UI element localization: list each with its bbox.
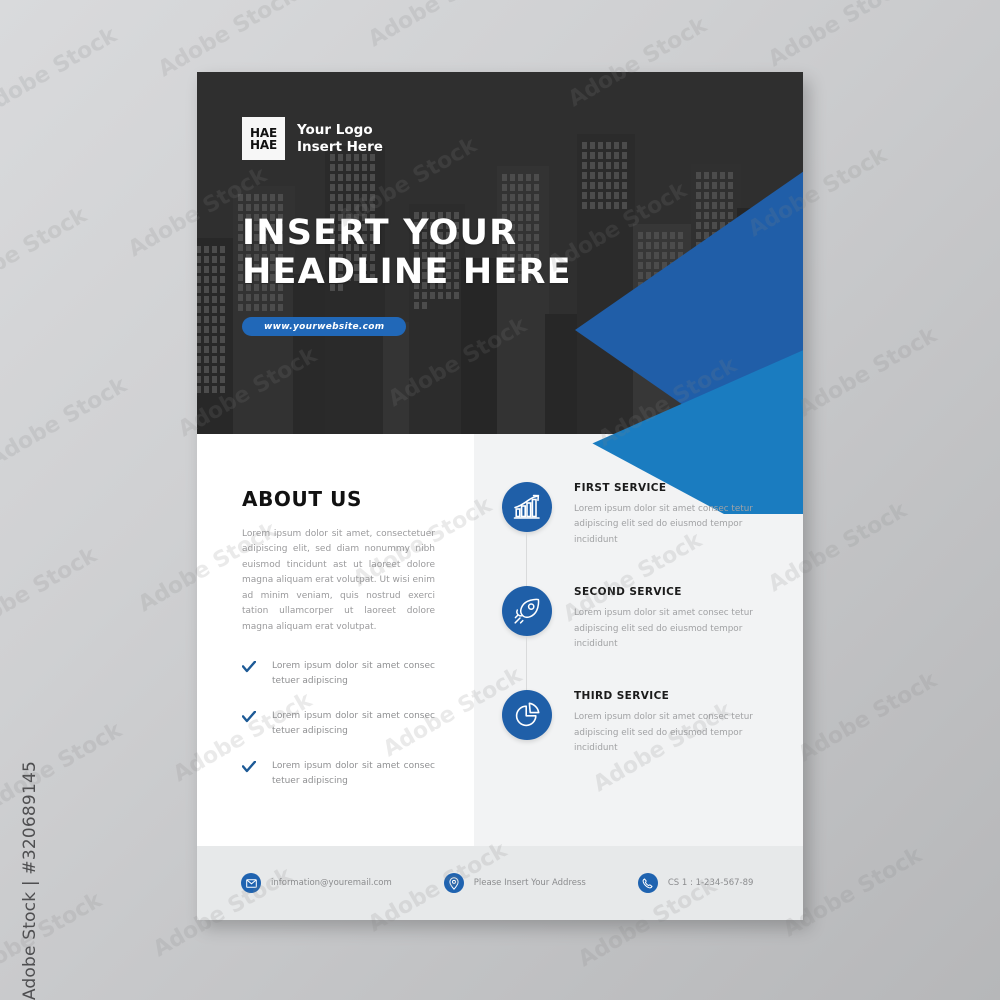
envelope-icon [241, 873, 261, 893]
preview-canvas: Adobe Stock | #320689145 [0, 0, 1000, 1000]
service-title: SECOND SERVICE [574, 586, 774, 598]
about-paragraph: Lorem ipsum dolor sit amet, consectetuer… [242, 527, 435, 635]
contact-phone[interactable]: CS 1 : 1-234-567-89 [638, 873, 754, 893]
watermark-text: Adobe Stock [794, 323, 941, 422]
about-checklist: Lorem ipsum dolor sit amet consec tetuer… [242, 659, 435, 788]
window-grid [577, 134, 635, 434]
service-body: SECOND SERVICE Lorem ipsum dolor sit ame… [574, 586, 774, 652]
service-title: FIRST SERVICE [574, 482, 774, 494]
pie-chart-icon [502, 690, 552, 740]
website-pill-label: www.yourwebsite.com [264, 322, 384, 332]
contact-email[interactable]: information@youremail.com [241, 873, 392, 893]
list-item-label: Lorem ipsum dolor sit amet consec tetuer… [272, 709, 435, 739]
service-text: Lorem ipsum dolor sit amet consec tetur … [574, 502, 774, 548]
service-text: Lorem ipsum dolor sit amet consec tetur … [574, 710, 774, 756]
logo-mark: HAE HAE [242, 117, 285, 160]
about-title: ABOUT US [242, 487, 435, 511]
list-item-label: Lorem ipsum dolor sit amet consec tetuer… [272, 759, 435, 789]
stock-caption: Adobe Stock | #320689145 [10, 0, 50, 1000]
service-title: THIRD SERVICE [574, 690, 774, 702]
headline-line-1: INSERT YOUR [242, 214, 572, 253]
check-icon [242, 659, 256, 678]
service-item-second: SECOND SERVICE Lorem ipsum dolor sit ame… [502, 586, 774, 652]
rocket-icon [502, 586, 552, 636]
logo-mark-line1: HAE [250, 127, 277, 139]
list-item: Lorem ipsum dolor sit amet consec tetuer… [242, 759, 435, 789]
logo-text-line2: Insert Here [297, 139, 383, 156]
website-pill[interactable]: www.yourwebsite.com [242, 317, 406, 336]
list-item: Lorem ipsum dolor sit amet consec tetuer… [242, 659, 435, 689]
check-icon [242, 759, 256, 778]
stock-caption-text: Adobe Stock | #320689145 [20, 753, 40, 1000]
headline-line-2: HEADLINE HERE [242, 253, 572, 292]
flyer-page: HAE HAE Your Logo Insert Here INSERT YOU… [197, 72, 803, 920]
building-silhouette [497, 166, 549, 434]
services-section: FIRST SERVICE Lorem ipsum dolor sit amet… [502, 482, 774, 757]
building-silhouette [197, 238, 237, 434]
list-item-label: Lorem ipsum dolor sit amet consec tetuer… [272, 659, 435, 689]
logo-mark-line2: HAE [250, 139, 277, 151]
list-item: Lorem ipsum dolor sit amet consec tetuer… [242, 709, 435, 739]
logo-text: Your Logo Insert Here [297, 122, 383, 156]
contact-address-text: Please Insert Your Address [474, 878, 586, 888]
service-body: THIRD SERVICE Lorem ipsum dolor sit amet… [574, 690, 774, 756]
logo-text-line1: Your Logo [297, 122, 383, 139]
contact-address[interactable]: Please Insert Your Address [444, 873, 586, 893]
flyer-footer: information@youremail.com Please Insert … [197, 846, 803, 920]
service-item-first: FIRST SERVICE Lorem ipsum dolor sit amet… [502, 482, 774, 548]
phone-icon [638, 873, 658, 893]
service-body: FIRST SERVICE Lorem ipsum dolor sit amet… [574, 482, 774, 548]
logo-block[interactable]: HAE HAE Your Logo Insert Here [242, 117, 383, 160]
watermark-text: Adobe Stock [764, 0, 911, 72]
building-silhouette [577, 134, 635, 434]
window-grid [497, 166, 549, 434]
service-text: Lorem ipsum dolor sit amet consec tetur … [574, 606, 774, 652]
service-item-third: THIRD SERVICE Lorem ipsum dolor sit amet… [502, 690, 774, 756]
check-icon [242, 709, 256, 728]
about-section: ABOUT US Lorem ipsum dolor sit amet, con… [242, 487, 435, 808]
contact-email-text: information@youremail.com [271, 878, 392, 888]
watermark-text: Adobe Stock [794, 668, 941, 767]
watermark-text: Adobe Stock [364, 0, 511, 52]
page-title: INSERT YOUR HEADLINE HERE [242, 214, 572, 292]
window-grid [197, 238, 237, 434]
contact-phone-text: CS 1 : 1-234-567-89 [668, 878, 754, 888]
growth-chart-icon [502, 482, 552, 532]
watermark-text: Adobe Stock [154, 0, 301, 82]
location-pin-icon [444, 873, 464, 893]
